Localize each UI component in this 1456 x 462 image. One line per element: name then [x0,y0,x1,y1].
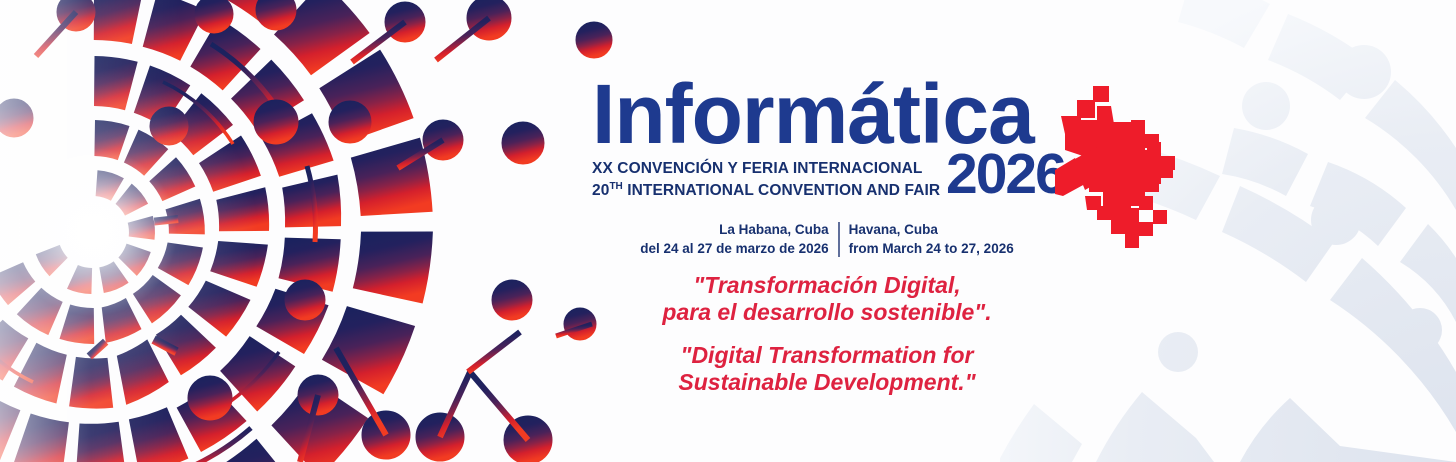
subtitle-english: 20TH INTERNATIONAL CONVENTION AND FAIR [592,178,940,200]
subtitle-english-ordinal: TH [609,181,622,192]
location-english: Havana, Cuba [849,220,1014,239]
tagline-spanish: "Transformación Digital, para el desarro… [592,272,1062,326]
logo-subtitle: XX CONVENCIÓN Y FERIA INTERNACIONAL 20TH… [592,160,940,200]
location-spanish: La Habana, Cuba [640,220,828,239]
event-date-location-row: La Habana, Cuba del 24 al 27 de marzo de… [592,220,1062,258]
subtitle-english-rest: INTERNATIONAL CONVENTION AND FAIR [623,182,940,199]
subtitle-english-number: 20 [592,182,609,199]
event-info-english: Havana, Cuba from March 24 to 27, 2026 [840,220,1014,258]
conference-banner: Informática XX CONVENCIÓN Y FERIA INTERN… [0,0,1456,462]
dates-english: from March 24 to 27, 2026 [849,239,1014,258]
date-divider [838,222,840,257]
tagline-english: "Digital Transformation for Sustainable … [592,342,1062,396]
wordmark-year: 2026 [946,146,1065,203]
event-info-spanish: La Habana, Cuba del 24 al 27 de marzo de… [640,220,837,258]
pixelated-star-icon [1055,78,1177,248]
dates-spanish: del 24 al 27 de marzo de 2026 [640,239,828,258]
subtitle-spanish: XX CONVENCIÓN Y FERIA INTERNACIONAL [592,160,940,178]
